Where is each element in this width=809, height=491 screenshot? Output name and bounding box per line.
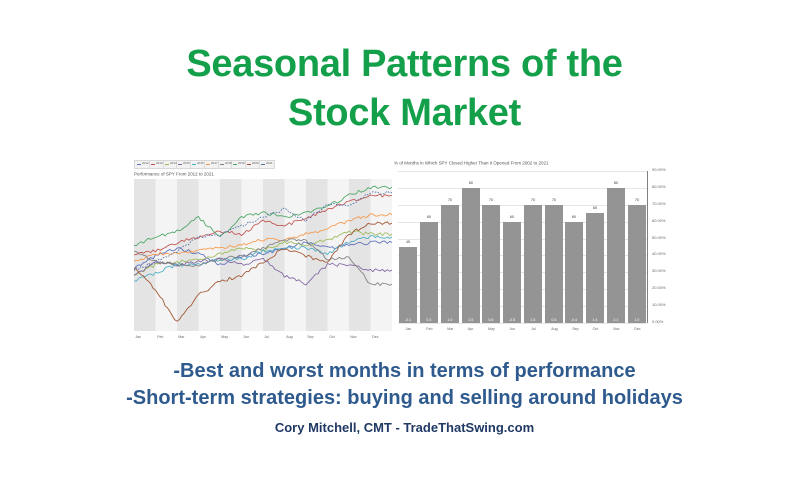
bar[interactable]: 701.0	[441, 205, 459, 323]
legend-swatch-icon	[261, 164, 265, 165]
bar-column-jun[interactable]: 60-0.5	[502, 171, 523, 323]
y-tick-label: 90.00%	[652, 169, 666, 173]
legend-swatch-icon	[206, 164, 210, 165]
author-credit: Cory Mitchell, CMT - TradeThatSwing.com	[0, 420, 809, 435]
y-tick-label: 10.00%	[652, 304, 666, 308]
bar[interactable]: 802.1	[607, 188, 625, 323]
bar-column-oct[interactable]: 651.4	[585, 171, 606, 323]
bar-footer-label: -0.1	[398, 318, 419, 322]
legend-label: 2013	[156, 163, 163, 166]
bar[interactable]: 802.5	[462, 188, 480, 323]
bar-footer-label: 0.6	[481, 318, 502, 322]
title-line-2: Stock Market	[0, 89, 809, 138]
legend-swatch-icon	[233, 164, 237, 165]
y-tick-label: 60.00%	[652, 219, 666, 223]
y-tick-label: 20.00%	[652, 287, 666, 291]
legend-item-2020[interactable]: 2020	[246, 161, 260, 168]
bar-column-nov[interactable]: 802.1	[606, 171, 627, 323]
bar-chart-bars: 45-0.1600.3701.0802.5700.660-0.5701.5700…	[398, 171, 647, 323]
charts-container: 2012201320142015201620172018201920202021…	[132, 157, 684, 350]
bar-value-label: 70	[625, 198, 647, 202]
bar-value-label: 45	[397, 240, 419, 244]
bar-chart-plot: 45-0.1600.3701.0802.5700.660-0.5701.5700…	[398, 171, 648, 323]
legend-swatch-icon	[220, 164, 224, 165]
line-chart-svg	[134, 179, 392, 331]
line-chart-legend[interactable]: 2012201320142015201620172018201920202021	[134, 160, 275, 169]
line-chart-panel: 2012201320142015201620172018201920202021…	[132, 157, 394, 350]
bar[interactable]: 45-0.1	[399, 247, 417, 323]
legend-label: 2017	[211, 163, 218, 166]
bar-footer-label: 0.3	[418, 318, 439, 322]
bar[interactable]: 600.3	[420, 222, 438, 323]
bar-column-jul[interactable]: 701.5	[523, 171, 544, 323]
bar-value-label: 80	[605, 181, 627, 185]
bar-value-label: 65	[584, 206, 606, 210]
legend-label: 2019	[238, 163, 245, 166]
legend-item-2018[interactable]: 2018	[219, 161, 233, 168]
bar-chart-title: % of Months in Which SPY Closed Higher T…	[394, 160, 548, 166]
bar-footer-label: 0.5	[543, 318, 564, 322]
bar-footer-label: -0.5	[501, 318, 522, 322]
y-tick-label: 40.00%	[652, 253, 666, 257]
legend-label: 2015	[183, 163, 190, 166]
bar[interactable]: 700.5	[545, 205, 563, 323]
bar[interactable]: 651.4	[586, 213, 604, 323]
bar-footer-label: 2.1	[605, 318, 626, 322]
title-line-1: Seasonal Patterns of the	[186, 43, 622, 85]
bar[interactable]: 700.6	[482, 205, 500, 323]
legend-swatch-icon	[178, 164, 182, 165]
bar-footer-label: 1.0	[626, 318, 647, 322]
bar[interactable]: 701.0	[628, 205, 646, 323]
bar[interactable]: 701.5	[524, 205, 542, 323]
bar-value-label: 70	[542, 198, 564, 202]
legend-label: 2020	[252, 163, 259, 166]
bar-column-may[interactable]: 700.6	[481, 171, 502, 323]
bar-column-aug[interactable]: 700.5	[543, 171, 564, 323]
y-tick-label: 50.00%	[652, 236, 666, 240]
legend-item-2019[interactable]: 2019	[232, 161, 246, 168]
y-tick-label: 70.00%	[652, 202, 666, 206]
legend-item-2021[interactable]: 2021	[260, 161, 273, 168]
bar-value-label: 60	[501, 215, 523, 219]
legend-label: 2021	[266, 163, 273, 166]
legend-swatch-icon	[137, 164, 141, 165]
bar-footer-label: 1.4	[584, 318, 605, 322]
y-tick-label: 80.00%	[652, 185, 666, 189]
legend-swatch-icon	[247, 164, 251, 165]
slide-root: Seasonal Patterns of the Stock Market 20…	[0, 0, 809, 491]
line-chart-x-axis: JanFebMarAprMayJunJulAugSepOctNovDec	[134, 332, 392, 342]
bar-chart-y-axis: 90.00%80.00%70.00%60.00%50.00%40.00%30.0…	[650, 171, 684, 323]
bar-chart-panel: % of Months in Which SPY Closed Higher T…	[394, 157, 684, 350]
bar-footer-label: 1.5	[522, 318, 543, 322]
x-tick-label: Dec	[625, 323, 650, 335]
legend-label: 2016	[197, 163, 204, 166]
legend-item-2012[interactable]: 2012	[136, 161, 150, 168]
line-chart-plot	[134, 179, 392, 331]
legend-swatch-icon	[165, 164, 169, 165]
y-tick-label: 30.00%	[652, 270, 666, 274]
legend-label: 2018	[225, 163, 232, 166]
bar-footer-label: 1.0	[439, 318, 460, 322]
bar-value-label: 60	[563, 215, 585, 219]
legend-item-2013[interactable]: 2013	[150, 161, 164, 168]
x-tick-label: Dec	[371, 331, 397, 343]
bullet-list: -Best and worst months in terms of perfo…	[0, 358, 809, 412]
bar-column-jan[interactable]: 45-0.1	[398, 171, 419, 323]
bar[interactable]: 60-0.4	[565, 222, 583, 323]
bar-value-label: 80	[459, 181, 481, 185]
legend-label: 2014	[170, 163, 177, 166]
bar-value-label: 60	[418, 215, 440, 219]
y-tick-label: 0.00%	[652, 321, 663, 325]
legend-item-2017[interactable]: 2017	[205, 161, 219, 168]
legend-label: 2012	[142, 163, 149, 166]
bar-value-label: 70	[480, 198, 502, 202]
legend-item-2014[interactable]: 2014	[164, 161, 178, 168]
bar-footer-label: 2.5	[460, 318, 481, 322]
legend-swatch-icon	[151, 164, 155, 165]
bar-column-apr[interactable]: 802.5	[460, 171, 481, 323]
bar-chart-x-axis: JanFebMarAprMayJunJulAugSepOctNovDec	[398, 324, 648, 334]
bar[interactable]: 60-0.5	[503, 222, 521, 323]
legend-swatch-icon	[192, 164, 196, 165]
bar-column-dec[interactable]: 701.0	[626, 171, 647, 323]
page-title: Seasonal Patterns of the Stock Market	[0, 40, 809, 137]
bullet-item-1: -Best and worst months in terms of perfo…	[0, 358, 809, 385]
bullet-item-2: -Short-term strategies: buying and selli…	[0, 385, 809, 412]
bar-value-label: 70	[439, 198, 461, 202]
bar-column-feb[interactable]: 600.3	[419, 171, 440, 323]
legend-item-2016[interactable]: 2016	[191, 161, 205, 168]
bar-footer-label: -0.4	[564, 318, 585, 322]
bar-value-label: 70	[522, 198, 544, 202]
line-chart-title: Performance of SPY From 2012 to 2021	[134, 171, 214, 177]
bar-column-sep[interactable]: 60-0.4	[564, 171, 585, 323]
legend-item-2015[interactable]: 2015	[177, 161, 191, 168]
bar-column-mar[interactable]: 701.0	[440, 171, 461, 323]
